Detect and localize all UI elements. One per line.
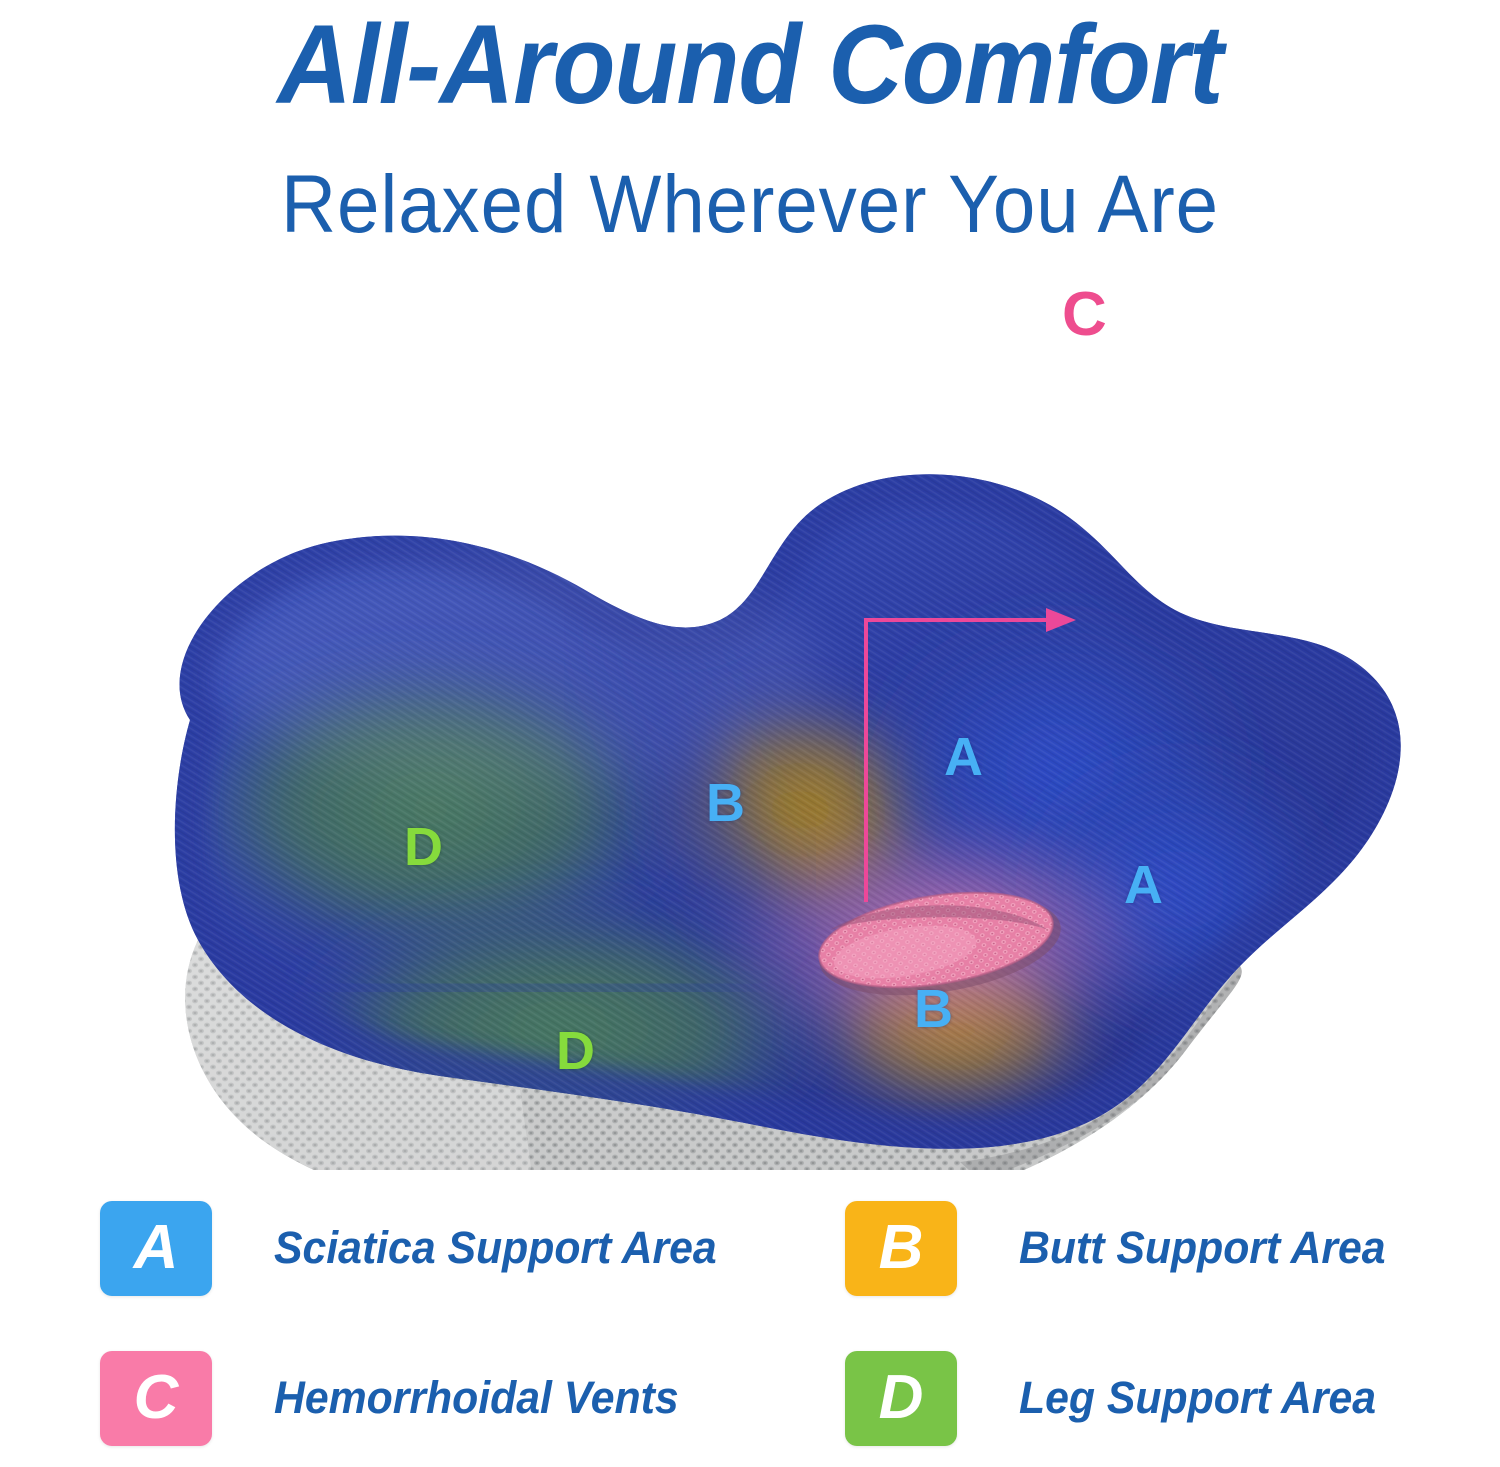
product-illustration: A A B B D D C — [0, 290, 1500, 1170]
legend-item-b: B Butt Support Area — [845, 1185, 1495, 1311]
legend-label-a: Sciatica Support Area — [274, 1222, 717, 1274]
legend-row: A Sciatica Support Area B Butt Support A… — [0, 1185, 1500, 1311]
legend: A Sciatica Support Area B Butt Support A… — [0, 1185, 1500, 1467]
legend-item-a: A Sciatica Support Area — [100, 1185, 760, 1311]
legend-label-d: Leg Support Area — [1019, 1372, 1376, 1424]
legend-chip-a: A — [100, 1201, 212, 1296]
legend-item-d: D Leg Support Area — [845, 1335, 1495, 1461]
page-subtitle: Relaxed Wherever You Are — [53, 124, 1448, 250]
legend-item-c: C Hemorrhoidal Vents — [100, 1335, 760, 1461]
legend-row: C Hemorrhoidal Vents D Leg Support Area — [0, 1335, 1500, 1461]
header-block: All-Around Comfort Relaxed Wherever You … — [0, 0, 1500, 250]
legend-chip-d: D — [845, 1351, 957, 1446]
legend-chip-b: B — [845, 1201, 957, 1296]
legend-label-c: Hemorrhoidal Vents — [274, 1372, 679, 1424]
legend-chip-c: C — [100, 1351, 212, 1446]
page-title: All-Around Comfort — [60, 0, 1440, 124]
legend-label-b: Butt Support Area — [1019, 1222, 1386, 1274]
cushion-graphic — [0, 290, 1500, 1170]
